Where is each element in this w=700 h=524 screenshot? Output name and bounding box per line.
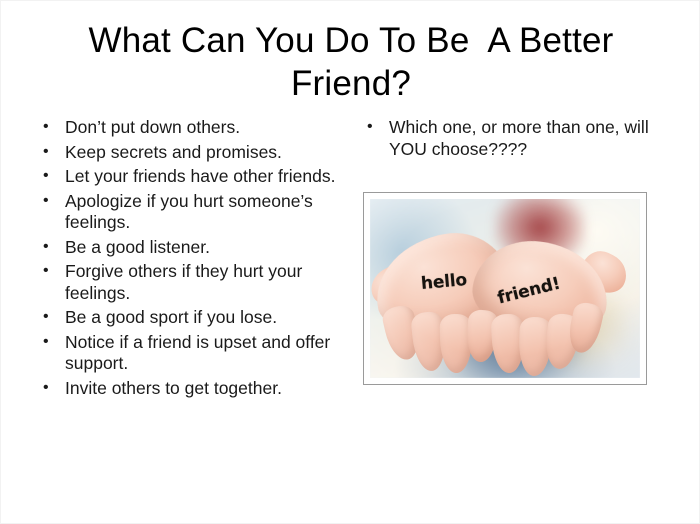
page-title: What Can You Do To Be A Better Friend? (41, 19, 661, 105)
slide-canvas: What Can You Do To Be A Better Friend? D… (0, 0, 700, 524)
right-content-column: Which one, or more than one, will YOU ch… (358, 117, 658, 163)
bullet-text: Be a good listener. (65, 237, 210, 257)
left-bullet-list: Don’t put down others. Keep secrets and … (35, 117, 340, 399)
bullet-text: Invite others to get together. (65, 378, 282, 398)
list-item: Keep secrets and promises. (35, 142, 340, 164)
list-item: Notice if a friend is upset and offer su… (35, 332, 340, 375)
bullet-text: Which one, or more than one, will YOU ch… (389, 117, 649, 159)
bullet-text: Apologize if you hurt someone’s feelings… (65, 191, 313, 233)
list-item: Be a good sport if you lose. (35, 307, 340, 329)
list-item: Invite others to get together. (35, 378, 340, 400)
list-item: Forgive others if they hurt your feeling… (35, 261, 340, 304)
list-item: Let your friends have other friends. (35, 166, 340, 188)
right-bullet-list: Which one, or more than one, will YOU ch… (358, 117, 658, 160)
photo-image: hello friend! (370, 199, 640, 378)
hello-friend-hands-photo: hello friend! (363, 192, 647, 385)
list-item: Be a good listener. (35, 237, 340, 259)
bullet-text: Notice if a friend is upset and offer su… (65, 332, 330, 374)
bullet-text: Keep secrets and promises. (65, 142, 282, 162)
bullet-text: Let your friends have other friends. (65, 166, 335, 186)
left-content-column: Don’t put down others. Keep secrets and … (35, 117, 340, 402)
list-item: Which one, or more than one, will YOU ch… (358, 117, 658, 160)
bullet-text: Don’t put down others. (65, 117, 240, 137)
bullet-text: Be a good sport if you lose. (65, 307, 277, 327)
list-item: Apologize if you hurt someone’s feelings… (35, 191, 340, 234)
bullet-text: Forgive others if they hurt your feeling… (65, 261, 302, 303)
list-item: Don’t put down others. (35, 117, 340, 139)
